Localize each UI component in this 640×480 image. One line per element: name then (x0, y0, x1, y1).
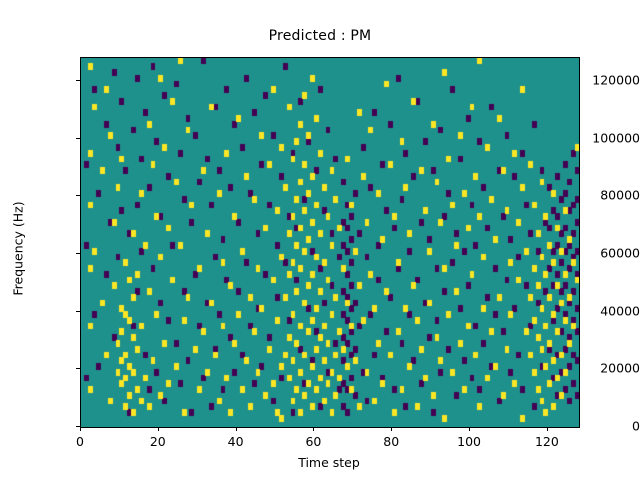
x-tick-mark (391, 427, 392, 431)
x-tick-label: 100 (457, 434, 481, 449)
x-tick-mark (236, 427, 237, 431)
x-tick-mark (313, 427, 314, 431)
x-tick-label: 0 (76, 434, 84, 449)
x-tick-label: 40 (228, 434, 244, 449)
x-tick-mark (158, 427, 159, 431)
x-tick-mark (547, 427, 548, 431)
y-axis-label: Frequency (Hz) (11, 179, 26, 319)
x-tick-label: 20 (150, 434, 166, 449)
x-axis-ticks: 020406080100120 (0, 0, 640, 480)
x-tick-label: 80 (383, 434, 399, 449)
x-tick-mark (469, 427, 470, 431)
x-axis-label: Time step (80, 455, 578, 470)
matplotlib-figure: Predicted : PM 0200004000060000800001000… (0, 0, 640, 480)
x-tick-label: 60 (305, 434, 321, 449)
x-tick-label: 120 (535, 434, 559, 449)
x-tick-mark (80, 427, 81, 431)
